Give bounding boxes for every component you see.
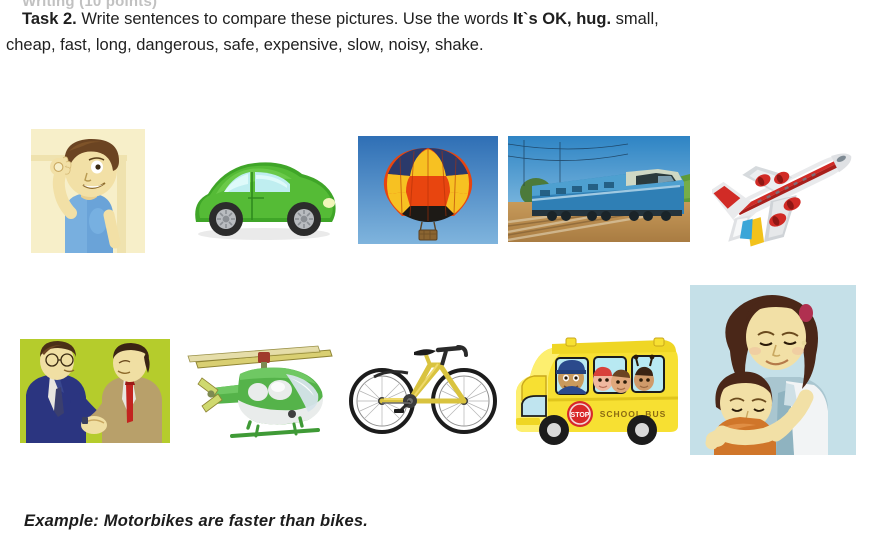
picture-mother-hugging-child <box>690 285 856 455</box>
blue-train-photo <box>508 136 690 242</box>
picture-school-bus: STOP SCHOOL BUS <box>508 330 683 448</box>
picture-green-helicopter <box>180 340 338 444</box>
school-bus-label: SCHOOL BUS <box>600 409 667 419</box>
school-bus-illustration: STOP SCHOOL BUS <box>508 330 683 448</box>
airplane-illustration <box>712 140 867 250</box>
picture-blue-train <box>508 136 690 242</box>
stop-sign-label: STOP <box>571 412 590 419</box>
worksheet-page: Writing (10 points) Task 2. Write senten… <box>0 0 880 556</box>
ok-gesture-boy-illustration <box>25 125 151 256</box>
green-helicopter-illustration <box>180 340 338 444</box>
handshake-illustration <box>20 339 170 443</box>
green-car-illustration <box>186 148 342 244</box>
picture-green-car <box>186 148 342 244</box>
picture-ok-gesture-boy <box>25 125 151 256</box>
example-sentence: Example: Motorbikes are faster than bike… <box>24 512 368 531</box>
picture-airplane <box>712 140 867 250</box>
picture-handshake-businessmen <box>20 339 170 443</box>
picture-yellow-bicycle <box>348 325 498 447</box>
hot-air-balloon-photo <box>358 136 498 244</box>
picture-grid: STOP SCHOOL BUS <box>0 0 880 556</box>
picture-hot-air-balloon <box>358 136 498 244</box>
hug-illustration <box>690 285 856 455</box>
yellow-bicycle-illustration <box>348 325 498 447</box>
